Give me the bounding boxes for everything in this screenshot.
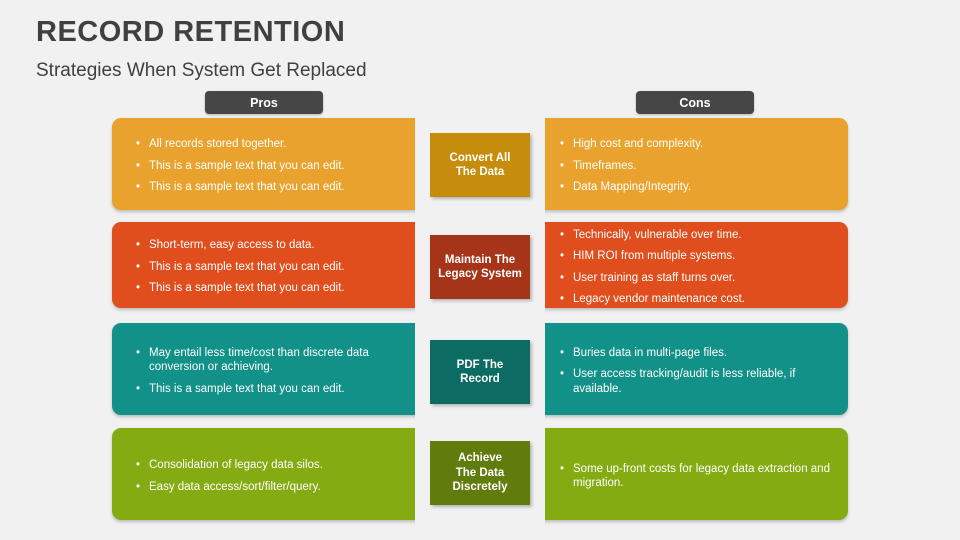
bullet-dot-icon: • bbox=[136, 260, 140, 275]
center-badge-convert-all-the-data: Convert AllThe Data bbox=[430, 133, 530, 197]
bullet-text: User access tracking/audit is less relia… bbox=[573, 368, 795, 395]
cons-panel-convert-all-the-data: •High cost and complexity.•Timeframes.•D… bbox=[536, 118, 848, 210]
center-badge-line: PDF The bbox=[457, 358, 504, 373]
bullet-dot-icon: • bbox=[560, 346, 564, 361]
center-badge-line: Maintain The bbox=[438, 253, 522, 268]
cons-panel-pdf-the-record: •Buries data in multi-page files.•User a… bbox=[536, 323, 848, 415]
bullet-dot-icon: • bbox=[136, 238, 140, 253]
bullet-item: •High cost and complexity. bbox=[560, 137, 830, 152]
bullet-list: •All records stored together.•This is a … bbox=[136, 137, 406, 195]
bullet-text: All records stored together. bbox=[149, 138, 286, 150]
bullet-dot-icon: • bbox=[136, 180, 140, 195]
bullet-item: •Consolidation of legacy data silos. bbox=[136, 458, 406, 473]
bullet-text: Consolidation of legacy data silos. bbox=[149, 459, 323, 471]
bullet-item: •Easy data access/sort/filter/query. bbox=[136, 480, 406, 495]
center-badge-label: Convert AllThe Data bbox=[450, 151, 511, 180]
bullet-dot-icon: • bbox=[136, 137, 140, 152]
bullet-item: •Timeframes. bbox=[560, 159, 830, 174]
center-badge-line: Record bbox=[457, 372, 504, 387]
bullet-item: •This is a sample text that you can edit… bbox=[136, 281, 406, 296]
bullet-dot-icon: • bbox=[560, 137, 564, 152]
bullet-text: Legacy vendor maintenance cost. bbox=[573, 293, 745, 305]
bullet-dot-icon: • bbox=[560, 462, 564, 477]
bullet-item: •HIM ROI from multiple systems. bbox=[560, 249, 830, 264]
bullet-text: This is a sample text that you can edit. bbox=[149, 261, 345, 273]
bullet-list: •May entail less time/cost than discrete… bbox=[136, 346, 406, 397]
bullet-text: This is a sample text that you can edit. bbox=[149, 181, 345, 193]
bullet-list: •Some up-front costs for legacy data ext… bbox=[560, 462, 830, 491]
bullet-dot-icon: • bbox=[136, 159, 140, 174]
bullet-text: Short-term, easy access to data. bbox=[149, 239, 315, 251]
bullet-text: May entail less time/cost than discrete … bbox=[149, 347, 369, 374]
center-badge-maintain-the-legacy-system: Maintain TheLegacy System bbox=[430, 235, 530, 299]
bullet-dot-icon: • bbox=[136, 346, 140, 361]
bullet-dot-icon: • bbox=[560, 228, 564, 243]
center-badge-line: Achieve bbox=[453, 451, 508, 466]
bullet-list: •High cost and complexity.•Timeframes.•D… bbox=[560, 137, 830, 195]
bullet-item: •Technically, vulnerable over time. bbox=[560, 228, 830, 243]
pros-panel-convert-all-the-data: •All records stored together.•This is a … bbox=[112, 118, 424, 210]
bullet-text: This is a sample text that you can edit. bbox=[149, 282, 345, 294]
bullet-item: •May entail less time/cost than discrete… bbox=[136, 346, 406, 375]
bullet-dot-icon: • bbox=[560, 249, 564, 264]
bullet-text: Timeframes. bbox=[573, 160, 636, 172]
center-badge-label: PDF TheRecord bbox=[457, 358, 504, 387]
bullet-dot-icon: • bbox=[560, 367, 564, 382]
bullet-list: •Buries data in multi-page files.•User a… bbox=[560, 346, 830, 397]
bullet-item: •This is a sample text that you can edit… bbox=[136, 180, 406, 195]
center-badge-pdf-the-record: PDF TheRecord bbox=[430, 340, 530, 404]
bullet-item: •This is a sample text that you can edit… bbox=[136, 382, 406, 397]
bullet-text: Data Mapping/Integrity. bbox=[573, 181, 691, 193]
cons-panel-maintain-the-legacy-system: •Technically, vulnerable over time.•HIM … bbox=[536, 222, 848, 308]
bullet-item: •All records stored together. bbox=[136, 137, 406, 152]
bullet-dot-icon: • bbox=[560, 292, 564, 307]
center-badge-line: Convert All bbox=[450, 151, 511, 166]
bullet-item: •This is a sample text that you can edit… bbox=[136, 260, 406, 275]
cons-panel-achieve-the-data-discretely: •Some up-front costs for legacy data ext… bbox=[536, 428, 848, 520]
pros-panel-achieve-the-data-discretely: •Consolidation of legacy data silos.•Eas… bbox=[112, 428, 424, 520]
center-badge-line: The Data bbox=[453, 466, 508, 481]
bullet-list: •Consolidation of legacy data silos.•Eas… bbox=[136, 458, 406, 494]
bullet-dot-icon: • bbox=[560, 159, 564, 174]
bullet-text: Buries data in multi-page files. bbox=[573, 347, 727, 359]
bullet-dot-icon: • bbox=[560, 180, 564, 195]
bullet-item: •Some up-front costs for legacy data ext… bbox=[560, 462, 830, 491]
column-header-cons: Cons bbox=[636, 91, 754, 114]
bullet-text: This is a sample text that you can edit. bbox=[149, 160, 345, 172]
bullet-text: Some up-front costs for legacy data extr… bbox=[573, 463, 830, 490]
center-badge-line: Discretely bbox=[453, 480, 508, 495]
bullet-list: •Technically, vulnerable over time.•HIM … bbox=[560, 228, 830, 307]
bullet-item: •Buries data in multi-page files. bbox=[560, 346, 830, 361]
bullet-item: •This is a sample text that you can edit… bbox=[136, 159, 406, 174]
bullet-item: •Short-term, easy access to data. bbox=[136, 238, 406, 253]
bullet-item: •Data Mapping/Integrity. bbox=[560, 180, 830, 195]
bullet-text: High cost and complexity. bbox=[573, 138, 703, 150]
bullet-dot-icon: • bbox=[136, 281, 140, 296]
bullet-dot-icon: • bbox=[136, 382, 140, 397]
bullet-text: Easy data access/sort/filter/query. bbox=[149, 481, 321, 493]
bullet-list: •Short-term, easy access to data.•This i… bbox=[136, 238, 406, 296]
center-badge-label: Maintain TheLegacy System bbox=[438, 253, 522, 282]
slide-canvas: RECORD RETENTION Strategies When System … bbox=[0, 0, 960, 540]
center-badge-line: The Data bbox=[450, 165, 511, 180]
column-header-pros: Pros bbox=[205, 91, 323, 114]
bullet-item: •Legacy vendor maintenance cost. bbox=[560, 292, 830, 307]
center-badge-line: Legacy System bbox=[438, 267, 522, 282]
bullet-item: •User training as staff turns over. bbox=[560, 271, 830, 286]
bullet-text: Technically, vulnerable over time. bbox=[573, 229, 742, 241]
pros-panel-pdf-the-record: •May entail less time/cost than discrete… bbox=[112, 323, 424, 415]
page-subtitle: Strategies When System Get Replaced bbox=[36, 60, 367, 82]
bullet-text: HIM ROI from multiple systems. bbox=[573, 250, 735, 262]
pros-panel-maintain-the-legacy-system: •Short-term, easy access to data.•This i… bbox=[112, 222, 424, 308]
page-title: RECORD RETENTION bbox=[36, 16, 345, 49]
bullet-item: •User access tracking/audit is less reli… bbox=[560, 367, 830, 396]
bullet-text: User training as staff turns over. bbox=[573, 272, 735, 284]
center-badge-achieve-the-data-discretely: AchieveThe DataDiscretely bbox=[430, 441, 530, 505]
bullet-dot-icon: • bbox=[136, 458, 140, 473]
bullet-text: This is a sample text that you can edit. bbox=[149, 383, 345, 395]
center-badge-label: AchieveThe DataDiscretely bbox=[453, 451, 508, 495]
bullet-dot-icon: • bbox=[560, 271, 564, 286]
bullet-dot-icon: • bbox=[136, 480, 140, 495]
